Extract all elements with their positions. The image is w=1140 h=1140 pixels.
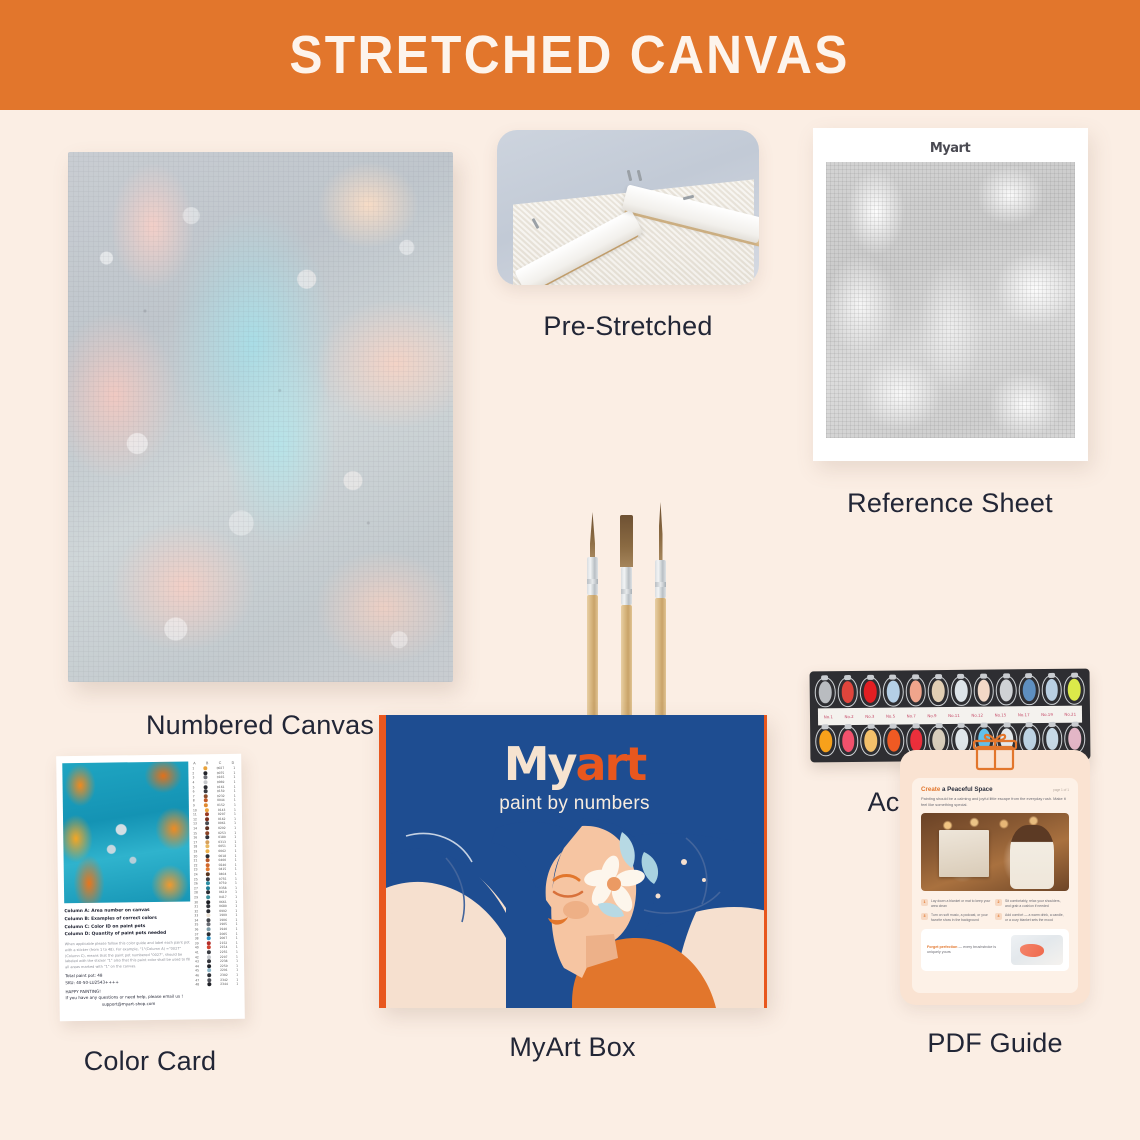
tip-badge-icon: 2 xyxy=(995,899,1002,906)
tip-text: Add comfort — a warm drink, a candle, or… xyxy=(1005,913,1066,923)
paint-pot-color xyxy=(1000,679,1013,701)
product-item-pdf-guide[interactable]: Create a Peaceful Space page 1 of 1 Pain… xyxy=(880,750,1110,1059)
paint-pot-color xyxy=(819,681,832,703)
painter-illustration xyxy=(1010,825,1054,889)
cc-color-swatch xyxy=(207,982,211,986)
product-item-numbered-canvas[interactable]: Numbered Canvas xyxy=(40,152,480,741)
col-header-c: C xyxy=(218,761,221,765)
gift-icon xyxy=(972,732,1018,772)
tip-badge-icon: 3 xyxy=(921,913,928,920)
color-card-fine-print: When applicable please follow this color… xyxy=(64,941,190,971)
paint-pot xyxy=(928,676,949,706)
paint-pot-id-label: No.1 xyxy=(824,714,833,719)
color-card-table-rows: 1002712007513016514006915016116015917023… xyxy=(192,766,238,987)
pdf-guide-title: Create a Peaceful Space xyxy=(921,786,993,793)
paint-pot-color xyxy=(864,730,877,752)
pdf-guide-tips-list: 1Lay down a blanket or mat to keep your … xyxy=(921,897,1069,925)
color-card-label: Color Card xyxy=(30,1046,270,1077)
color-card-legend: Column A: Area number on canvas Column B… xyxy=(64,906,191,1008)
cc-color-id: 2344 xyxy=(220,982,228,986)
paint-pot-color xyxy=(932,680,945,702)
paint-pot xyxy=(838,726,859,756)
paint-pot-id-label: No.15 xyxy=(995,712,1007,717)
logo-my-text: My xyxy=(504,737,576,791)
paint-pot xyxy=(1041,675,1062,705)
paint-pot-color xyxy=(910,729,923,751)
reference-sheet-paper: Myart xyxy=(813,128,1088,461)
pdf-note-thumbnail xyxy=(1011,935,1063,965)
color-card-table: A B C D 10027120075130165140069150161160… xyxy=(192,761,239,1013)
paint-pot-color xyxy=(841,681,854,703)
paint-pot xyxy=(1019,675,1040,705)
easel-illustration xyxy=(939,830,989,877)
paint-pot-color xyxy=(955,680,968,702)
tip-text: Lay down a blanket or mat to keep your a… xyxy=(931,899,992,909)
paint-pot xyxy=(860,726,881,756)
reference-sheet-logo: Myart xyxy=(826,141,1075,156)
paint-pot-color xyxy=(842,730,855,752)
paint-pot-color xyxy=(977,680,990,702)
paint-pot-id-label: No.5 xyxy=(886,714,895,719)
pdf-guide-card: Create a Peaceful Space page 1 of 1 Pain… xyxy=(900,750,1090,1005)
paint-pot-id-label: No.19 xyxy=(1041,712,1053,717)
pdf-guide-tip: 3Turn on soft music, a podcast, or your … xyxy=(921,911,995,925)
pdf-guide-label: PDF Guide xyxy=(880,1028,1110,1059)
legend-line-a: Column A: Area number on canvas xyxy=(64,908,149,914)
product-contents-stage: Numbered Canvas Pre-Stretched Myart Refe… xyxy=(0,110,1140,1140)
paint-pot-color xyxy=(1023,679,1036,701)
legend-line-b: Column B: Examples of correct colors xyxy=(64,916,156,922)
pdf-page-number: page 1 of 1 xyxy=(1053,788,1069,792)
pre-stretched-label: Pre-Stretched xyxy=(478,311,778,342)
paint-tray: No.1No.2No.3No.5No.7No.9No.11No.12No.15N… xyxy=(810,669,1091,763)
color-card-row: 4823441 xyxy=(195,982,238,987)
paint-pot-color xyxy=(1046,728,1059,750)
col-header-d: D xyxy=(231,761,234,765)
paint-pot-color xyxy=(1069,728,1082,750)
numbered-canvas-image xyxy=(68,152,453,682)
paint-pot xyxy=(860,677,881,707)
paint-pot-color xyxy=(864,681,877,703)
paint-pot-color xyxy=(1068,679,1081,701)
staple-icon xyxy=(627,170,633,181)
brush-ferrule xyxy=(655,560,666,598)
paint-pot-id-label: No.3 xyxy=(865,714,874,719)
page-title: STRETCHED CANVAS xyxy=(290,24,850,86)
col-header-a: A xyxy=(193,761,195,765)
brush-bristles xyxy=(659,502,663,560)
paint-pot xyxy=(996,675,1017,705)
paint-pot-color xyxy=(933,729,946,751)
pdf-note-bold: Forget perfection xyxy=(927,945,957,949)
logo-art-text: art xyxy=(576,737,646,791)
legend-line-c: Column C: Color ID on paint pots xyxy=(64,924,145,930)
paint-pot-color xyxy=(909,680,922,702)
pdf-guide-note: Forget perfection — every brushstroke is… xyxy=(921,929,1069,971)
brush-ferrule xyxy=(621,567,632,605)
cc-area-number: 48 xyxy=(195,983,199,987)
color-card-paper: Column A: Area number on canvas Column B… xyxy=(56,754,245,1022)
paint-pot xyxy=(973,676,994,706)
myart-logo: Myart paint by numbers xyxy=(386,715,764,815)
paint-pot-color xyxy=(955,729,968,751)
tip-badge-icon: 4 xyxy=(995,913,1002,920)
myart-box-subtitle: paint by numbers xyxy=(386,793,764,815)
product-item-pre-stretched[interactable]: Pre-Stretched xyxy=(478,130,778,342)
paint-pot xyxy=(951,676,972,706)
paint-pot-color xyxy=(1045,679,1058,701)
paint-pot-id-label: No.17 xyxy=(1018,712,1030,717)
pdf-guide-photo xyxy=(921,813,1069,891)
pdf-guide-tip: 4Add comfort — a warm drink, a candle, o… xyxy=(995,911,1069,925)
paint-pot xyxy=(883,676,904,706)
paint-pot-color xyxy=(887,681,900,703)
paint-pot xyxy=(815,726,836,756)
pdf-guide-page: Create a Peaceful Space page 1 of 1 Pain… xyxy=(912,778,1078,993)
pdf-guide-tip: 1Lay down a blanket or mat to keep your … xyxy=(921,897,995,911)
pdf-guide-tip: 2Sit comfortably, relax your shoulders, … xyxy=(995,897,1069,911)
product-item-color-card[interactable]: Column A: Area number on canvas Column B… xyxy=(30,755,270,1077)
paint-pot-id-label: No.2 xyxy=(844,714,853,719)
page-header: STRETCHED CANVAS xyxy=(0,0,1140,110)
paint-pot-color xyxy=(1023,728,1036,750)
paint-pot-id-label: No.7 xyxy=(907,713,916,718)
staple-icon xyxy=(637,170,643,181)
paint-row-top xyxy=(815,675,1085,708)
cc-quantity: 1 xyxy=(236,982,238,986)
pdf-guide-header: Create a Peaceful Space page 1 of 1 xyxy=(921,786,1069,793)
tip-badge-icon: 1 xyxy=(921,899,928,906)
paint-tray-label-strip: No.1No.2No.3No.5No.7No.9No.11No.12No.15N… xyxy=(818,706,1082,726)
pdf-title-rest: a Peaceful Space xyxy=(940,786,992,793)
color-card-left-column: Column A: Area number on canvas Column B… xyxy=(62,761,191,1014)
product-item-reference-sheet[interactable]: Myart Reference Sheet xyxy=(800,128,1100,519)
paint-pot xyxy=(837,677,858,707)
woman-illustration xyxy=(386,818,767,1008)
reference-sheet-grayscale-pattern xyxy=(826,162,1075,438)
color-card-preview-image xyxy=(62,761,190,903)
paint-pot-color xyxy=(819,730,832,752)
brush-ferrule xyxy=(587,557,598,595)
paint-pot-color xyxy=(887,730,900,752)
paint-pot-id-label: No.21 xyxy=(1064,712,1076,717)
pdf-guide-intro: Painting should be a calming and joyful … xyxy=(921,796,1069,808)
col-header-b: B xyxy=(205,761,207,765)
myart-box-image: Myart paint by numbers xyxy=(379,715,767,1008)
paint-pot-id-label: No.11 xyxy=(948,713,960,718)
brush-bristles xyxy=(620,515,633,567)
tip-text: Sit comfortably, relax your shoulders, a… xyxy=(1005,899,1066,909)
paint-pot xyxy=(905,676,926,706)
product-item-myart-box[interactable]: Myart paint by numbers xyxy=(370,715,775,1063)
pdf-title-highlight: Create xyxy=(921,786,940,793)
paint-pot xyxy=(815,677,836,707)
tip-text: Turn on soft music, a podcast, or your f… xyxy=(931,913,992,923)
paint-pot xyxy=(1064,675,1085,705)
myart-box-label: MyArt Box xyxy=(370,1032,775,1063)
paint-pot-id-label: No.9 xyxy=(927,713,936,718)
paint-pot-id-label: No.12 xyxy=(971,713,983,718)
reference-sheet-label: Reference Sheet xyxy=(800,488,1100,519)
pre-stretched-frame-image xyxy=(497,130,759,285)
legend-line-d: Column D: Quantity of paint pots needed xyxy=(64,931,166,937)
brush-bristles xyxy=(590,512,595,557)
